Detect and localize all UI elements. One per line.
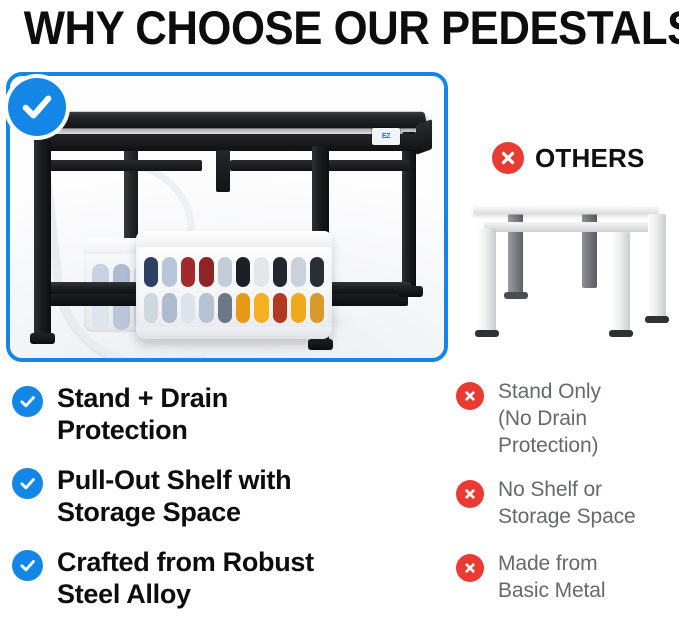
our-product-photo: EZ	[10, 76, 444, 358]
pedestal-top-surface	[26, 112, 427, 129]
list-item-label: Stand Only (No Drain Protection)	[498, 378, 601, 459]
check-icon	[8, 78, 66, 136]
basket-slots-row-2	[144, 293, 324, 323]
check-icon	[12, 468, 43, 499]
line-1: No Shelf or	[498, 478, 602, 501]
competitor-leg-back-right	[582, 208, 597, 288]
list-item-label: Pull-Out Shelf with Storage Space	[57, 464, 291, 528]
line-2: Steel Alloy	[57, 579, 191, 609]
check-icon	[12, 550, 43, 581]
list-item: No Shelf or Storage Space	[456, 476, 671, 530]
pedestal-rail-left	[42, 160, 202, 171]
pedestal-leg-back-right	[402, 132, 416, 290]
pros-list: Stand + Drain Protection Pull-Out Shelf …	[12, 382, 432, 610]
spacer	[456, 459, 671, 476]
line-1: Stand Only	[498, 380, 601, 403]
cross-icon	[456, 554, 484, 582]
cons-list: Stand Only (No Drain Protection) No Shel…	[456, 378, 671, 604]
line-1: Stand + Drain	[57, 383, 228, 413]
line-1: Pull-Out Shelf with	[57, 465, 291, 495]
pedestal-top-front-rail	[34, 134, 422, 151]
white-basic-stand	[462, 186, 674, 346]
page-title: WHY CHOOSE OUR PEDESTALS?	[24, 2, 655, 54]
line-1: Made from	[498, 552, 597, 575]
line-3: Protection)	[498, 434, 598, 457]
competitor-foot-1	[475, 330, 499, 337]
line-2: (No Drain	[498, 407, 587, 430]
competitor-foot-2	[609, 330, 633, 337]
pedestal-foot-3	[398, 286, 423, 297]
spacer	[12, 446, 432, 464]
pedestal-foot-1	[30, 333, 55, 344]
basket-base	[136, 327, 332, 339]
competitor-leg-front-left	[478, 228, 496, 332]
list-item-label: Stand + Drain Protection	[57, 382, 228, 446]
competitor-front-rail	[484, 222, 650, 232]
list-item: Crafted from Robust Steel Alloy	[12, 546, 432, 610]
competitor-top-frame	[473, 206, 658, 215]
list-item: Stand + Drain Protection	[12, 382, 432, 446]
list-item-label: Made from Basic Metal	[498, 550, 605, 604]
comparison-infographic: WHY CHOOSE OUR PEDESTALS?	[0, 0, 679, 639]
competitor-foot-3	[645, 316, 669, 323]
laundry-basket	[136, 231, 332, 339]
spacer	[456, 530, 671, 550]
check-icon	[12, 386, 43, 417]
list-item: Pull-Out Shelf with Storage Space	[12, 464, 432, 528]
others-header: OTHERS	[492, 142, 645, 174]
our-product-card: EZ	[6, 72, 448, 362]
pedestal-foot-2	[308, 339, 333, 350]
line-2: Protection	[57, 415, 188, 445]
list-item-label: Crafted from Robust Steel Alloy	[57, 546, 314, 610]
competitor-leg-side-right	[648, 214, 666, 318]
others-label: OTHERS	[535, 143, 645, 174]
competitor-product-photo	[462, 186, 674, 346]
pedestal-leg-front-left	[34, 140, 51, 336]
competitor-leg-front-right	[612, 232, 630, 332]
cross-icon	[456, 382, 484, 410]
list-item: Stand Only (No Drain Protection)	[456, 378, 671, 459]
competitor-foot-4	[504, 292, 528, 299]
cross-icon	[456, 480, 484, 508]
list-item-label: No Shelf or Storage Space	[498, 476, 636, 530]
basket-lip	[136, 231, 332, 247]
line-1: Crafted from Robust	[57, 547, 314, 577]
cross-icon	[492, 142, 524, 174]
spacer	[12, 528, 432, 546]
line-2: Storage Space	[498, 505, 636, 528]
list-item: Made from Basic Metal	[456, 550, 671, 604]
basket-slots-row-1	[144, 257, 324, 287]
line-2: Basic Metal	[498, 579, 605, 602]
pedestal-center-bracket	[216, 150, 230, 192]
brand-tag: EZ	[372, 128, 400, 145]
line-2: Storage Space	[57, 497, 241, 527]
